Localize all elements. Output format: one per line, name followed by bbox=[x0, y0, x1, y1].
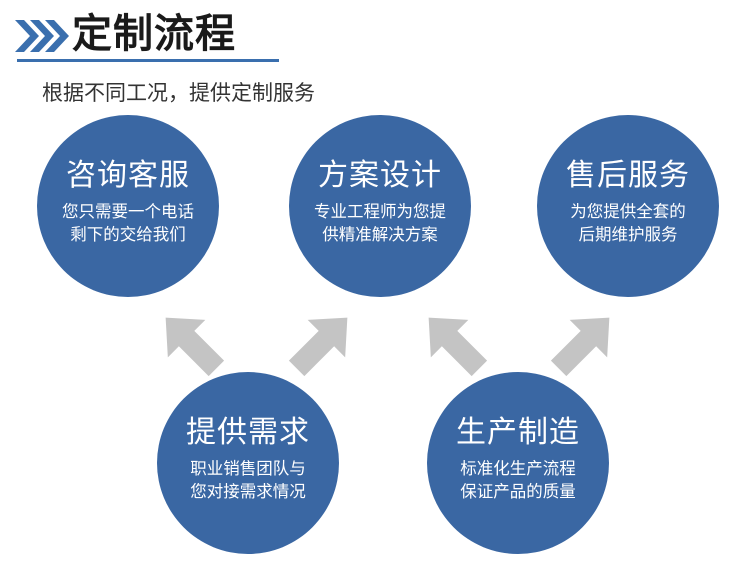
step-title: 生产制造 bbox=[456, 414, 580, 452]
step-title: 提供需求 bbox=[186, 414, 310, 452]
process-step-after-sales[interactable]: 售后服务 为您提供全套的 后期维护服务 bbox=[537, 115, 719, 297]
step-desc-line1: 专业工程师为您提 bbox=[314, 201, 446, 224]
step-desc-line2: 后期维护服务 bbox=[579, 224, 678, 247]
step-desc-line1: 标准化生产流程 bbox=[460, 458, 576, 481]
step-desc-line2: 供精准解决方案 bbox=[322, 224, 438, 247]
step-desc-line2: 保证产品的质量 bbox=[460, 481, 576, 504]
header: 定制流程 根据不同工况，提供定制服务 bbox=[0, 0, 750, 70]
arrow-down-right-icon bbox=[415, 302, 493, 384]
custom-process-infographic: 定制流程 根据不同工况，提供定制服务 咨询客服 您只需要一个电话 剩下的交给我们… bbox=[0, 0, 750, 576]
process-step-consult[interactable]: 咨询客服 您只需要一个电话 剩下的交给我们 bbox=[37, 115, 219, 297]
step-desc-line2: 剩下的交给我们 bbox=[70, 224, 186, 247]
step-desc-line1: 您只需要一个电话 bbox=[62, 201, 194, 224]
process-step-manufacturing[interactable]: 生产制造 标准化生产流程 保证产品的质量 bbox=[427, 372, 609, 554]
process-step-design[interactable]: 方案设计 专业工程师为您提 供精准解决方案 bbox=[289, 115, 471, 297]
step-desc-line2: 您对接需求情况 bbox=[190, 481, 306, 504]
step-desc-line1: 职业销售团队与 bbox=[190, 458, 306, 481]
step-desc-line1: 为您提供全套的 bbox=[570, 201, 686, 224]
arrow-up-right-icon bbox=[283, 302, 361, 384]
arrow-down-right-icon bbox=[152, 302, 230, 384]
title-underline bbox=[17, 59, 279, 62]
arrow-up-right-icon bbox=[545, 302, 623, 384]
page-subtitle: 根据不同工况，提供定制服务 bbox=[42, 79, 315, 109]
step-title: 方案设计 bbox=[318, 157, 442, 195]
page-title: 定制流程 bbox=[72, 8, 236, 60]
process-step-requirements[interactable]: 提供需求 职业销售团队与 您对接需求情况 bbox=[157, 372, 339, 554]
double-chevron-right-icon bbox=[14, 17, 70, 55]
step-title: 售后服务 bbox=[566, 157, 690, 195]
step-title: 咨询客服 bbox=[66, 157, 190, 195]
